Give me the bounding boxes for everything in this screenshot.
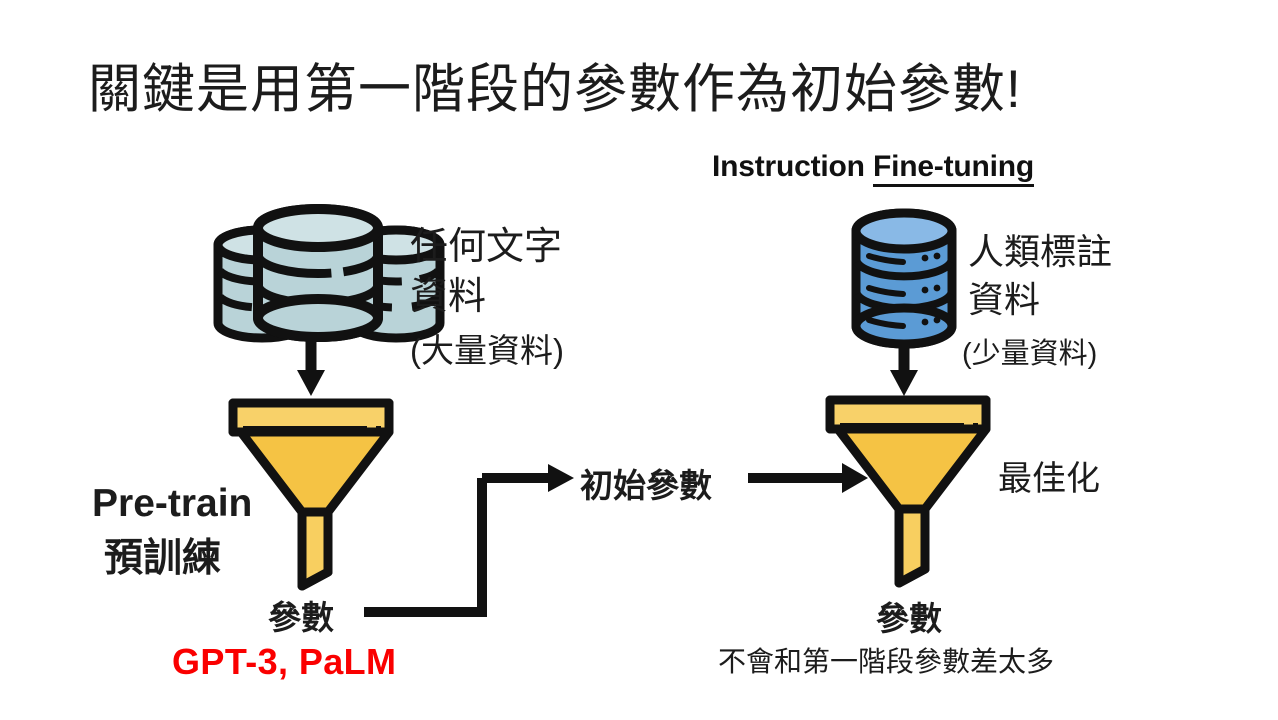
left-data-label-line1: 任何文字 [410, 222, 562, 272]
page-title: 關鍵是用第一階段的參數作為初始參數! [88, 62, 1022, 118]
left-data-amount: (大量資料) [410, 324, 564, 372]
arrow-right-to-funnel-icon [748, 463, 868, 493]
left-output-label: 參數 [268, 591, 334, 639]
right-data-amount: (少量資料) [962, 330, 1097, 372]
funnel-icon-left [233, 403, 389, 586]
arrow-down-right-icon [890, 340, 918, 396]
right-output-label: 參數 [876, 592, 942, 640]
funnel-icon-right [830, 400, 986, 583]
subtitle-plain-text: Instruction [712, 150, 873, 183]
right-data-label-line2: 資料 [968, 276, 1112, 324]
slide-canvas: 關鍵是用第一階段的參數作為初始參數! Instruction Fine-tuni… [0, 0, 1278, 720]
right-note-label: 不會和第一階段參數差太多 [718, 640, 1054, 680]
right-process-label: 最佳化 [998, 451, 1100, 500]
database-icon [856, 213, 952, 344]
subtitle-emphasis-text: Fine-tuning [873, 150, 1034, 187]
subtitle: Instruction Fine-tuning [712, 150, 1034, 184]
arrow-down-left-icon [297, 333, 325, 396]
left-data-label-line2: 資料 [410, 272, 562, 322]
pretrain-label-zh: 預訓練 [104, 527, 221, 583]
right-data-label-line1: 人類標註 [968, 228, 1112, 276]
database-stack-icon [218, 209, 440, 338]
left-data-label: 任何文字 資料 [410, 222, 562, 322]
elbow-connector-icon [364, 464, 574, 612]
pretrain-label-en: Pre-train [92, 482, 252, 526]
left-models-label: GPT-3, PaLM [172, 641, 396, 683]
right-data-label: 人類標註 資料 [968, 228, 1112, 323]
connector-label: 初始參數 [580, 459, 712, 507]
